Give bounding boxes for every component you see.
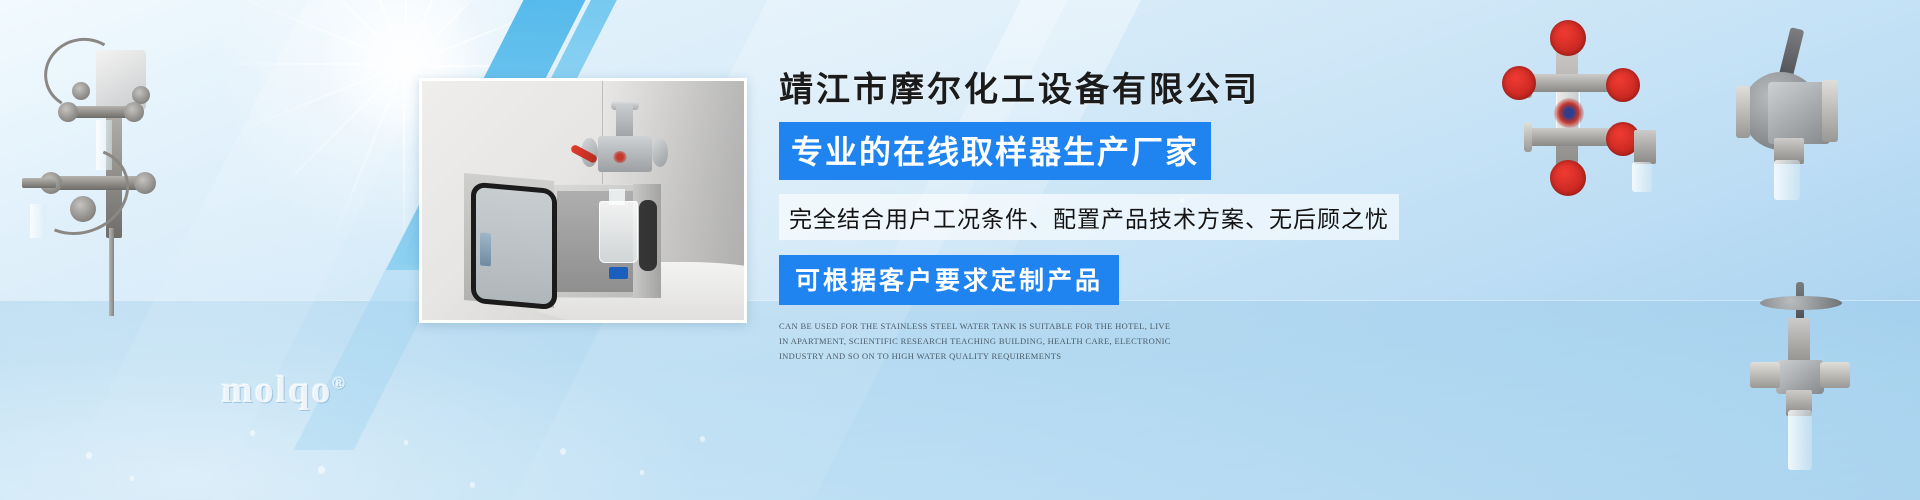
product-photo-card — [419, 78, 747, 323]
photo-valve-assembly — [583, 105, 667, 191]
subheadline: 完全结合用户工况条件、配置产品技术方案、无后顾之忧 — [779, 194, 1399, 240]
english-description: CAN BE USED FOR THE STAINLESS STEEL WATE… — [779, 319, 1174, 364]
photo-cabinet-door — [464, 173, 554, 308]
product-photo — [422, 81, 744, 320]
left-product-image — [10, 28, 180, 308]
brand-watermark-text: molqo — [221, 369, 332, 411]
cta-badge: 可根据客户要求定制产品 — [779, 255, 1119, 305]
registered-trademark-icon: ® — [332, 373, 345, 392]
brand-watermark: molqo® — [221, 368, 345, 412]
banner-text-block: 靖江市摩尔化工设备有限公司 专业的在线取样器生产厂家 完全结合用户工况条件、配置… — [779, 72, 1399, 364]
right-bottom-product-image — [1740, 282, 1870, 482]
right-mid-product-image — [1718, 30, 1868, 205]
company-name: 靖江市摩尔化工设备有限公司 — [779, 72, 1399, 109]
photo-sample-bottle — [599, 201, 638, 263]
right-top-product-image — [1494, 24, 1714, 194]
headline-badge: 专业的在线取样器生产厂家 — [779, 122, 1211, 180]
promotional-banner: 靖江市摩尔化工设备有限公司 专业的在线取样器生产厂家 完全结合用户工况条件、配置… — [0, 0, 1920, 500]
